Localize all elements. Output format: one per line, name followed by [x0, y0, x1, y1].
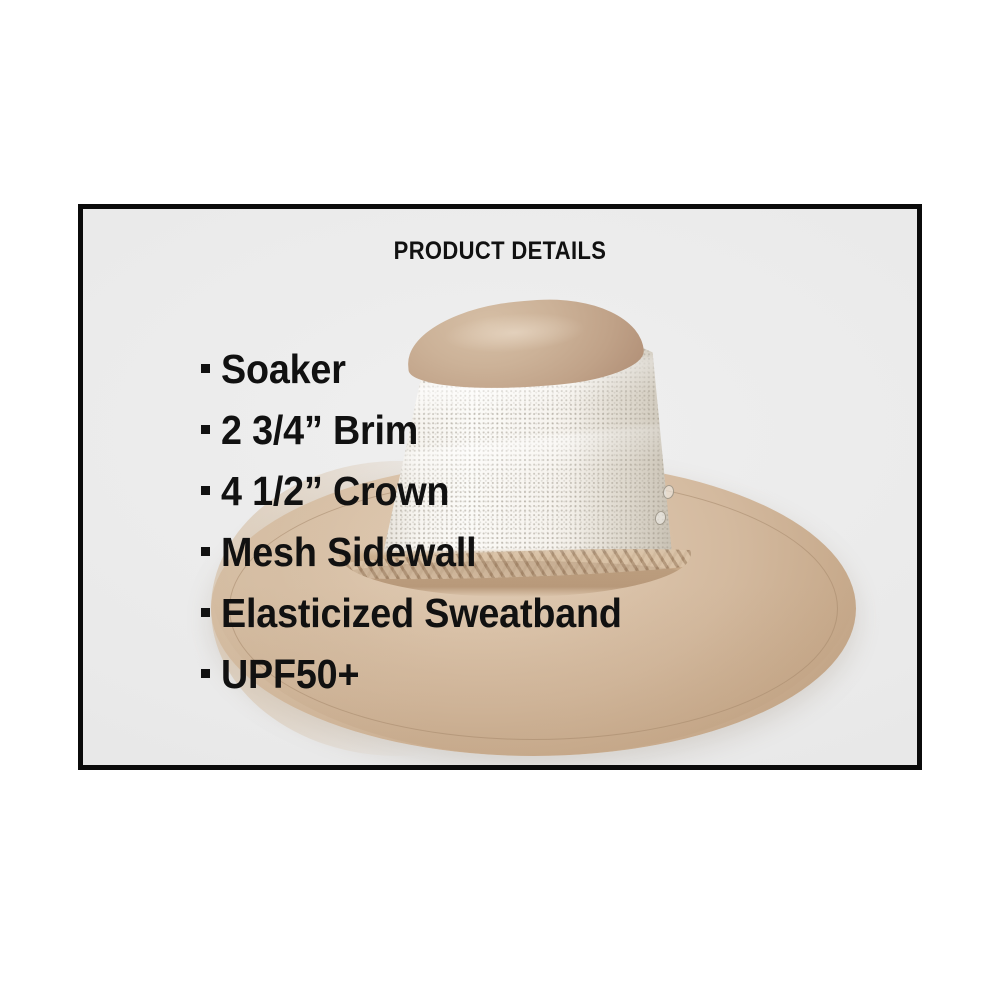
list-item: Elasticized Sweatband: [201, 583, 657, 644]
list-item: 2 3/4” Brim: [201, 400, 657, 461]
list-item: 4 1/2” Crown: [201, 461, 657, 522]
feature-label: Mesh Sidewall: [221, 522, 476, 583]
square-bullet-icon: [201, 608, 210, 617]
square-bullet-icon: [201, 547, 210, 556]
list-item: UPF50+: [201, 644, 657, 705]
square-bullet-icon: [201, 364, 210, 373]
square-bullet-icon: [201, 486, 210, 495]
feature-label: 2 3/4” Brim: [221, 400, 418, 461]
square-bullet-icon: [201, 669, 210, 678]
feature-list: Soaker 2 3/4” Brim 4 1/2” Crown Mesh Sid…: [201, 339, 657, 705]
square-bullet-icon: [201, 425, 210, 434]
feature-label: 4 1/2” Crown: [221, 461, 449, 522]
feature-label: UPF50+: [221, 644, 359, 705]
list-item: Soaker: [201, 339, 657, 400]
list-item: Mesh Sidewall: [201, 522, 657, 583]
page-canvas: PRODUCT DETAILS Soaker 2 3/4” Brim 4 1/2…: [0, 0, 1000, 1000]
product-details-panel: PRODUCT DETAILS Soaker 2 3/4” Brim 4 1/2…: [78, 204, 922, 770]
feature-label: Elasticized Sweatband: [221, 583, 622, 644]
feature-label: Soaker: [221, 339, 346, 400]
panel-title: PRODUCT DETAILS: [133, 237, 867, 266]
